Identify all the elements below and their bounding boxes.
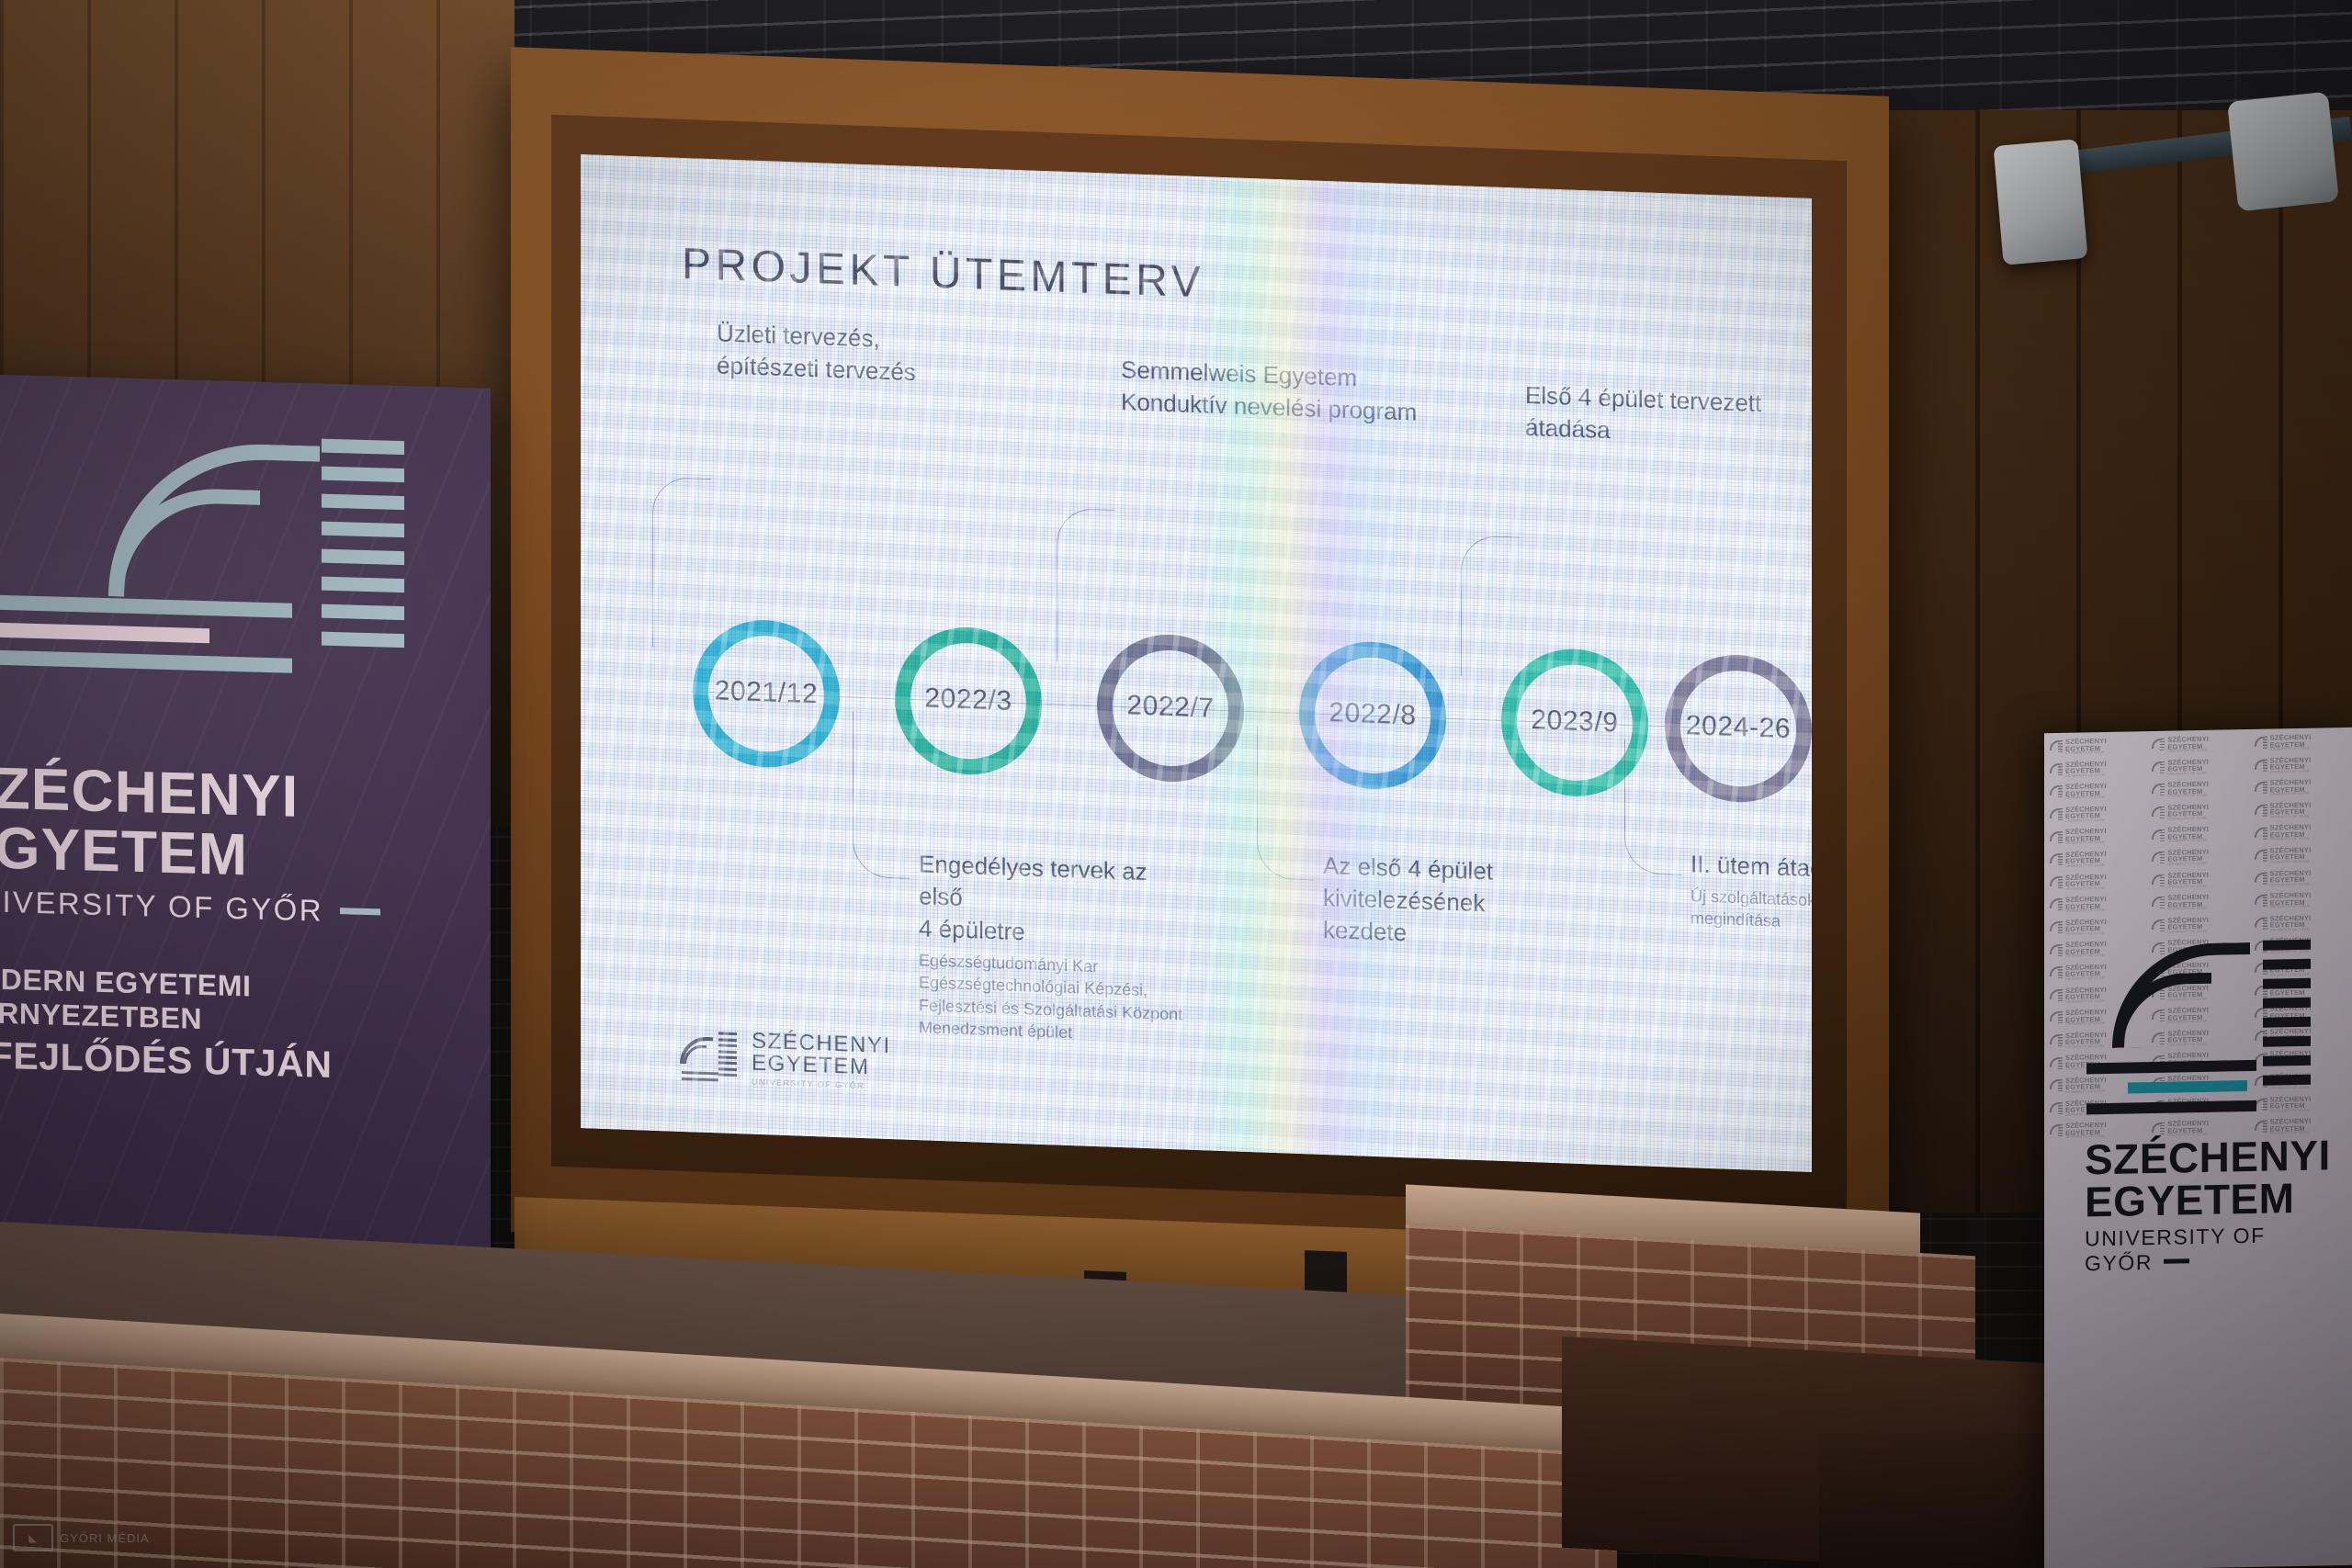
milestone-ring: 2022/3	[895, 625, 1042, 777]
banner-pattern-logo: SZÉCHENYIEGYETEMUNIVERSITY OF GYŐR	[2152, 871, 2248, 890]
banner-pattern-label: SZÉCHENYIEGYETEMUNIVERSITY OF GYŐR	[2270, 892, 2312, 909]
milestone-annotation-2022-03: Engedélyes tervek az első 4 épületre Egé…	[919, 848, 1194, 1047]
milestone-ring: 2022/8	[1299, 639, 1446, 792]
banner-pattern-logo: SZÉCHENYIEGYETEMUNIVERSITY OF GYŐR	[2050, 737, 2146, 756]
milestone-label: 2021/12	[715, 675, 819, 710]
ceiling-speaker-left	[1994, 139, 2088, 265]
szechenyi-mark-icon	[2152, 919, 2165, 932]
szechenyi-mark-icon	[2255, 895, 2267, 908]
szechenyi-mark-icon	[2050, 785, 2063, 798]
timeline-node-2021-12: 2021/12	[693, 617, 840, 770]
banner-pattern-label: SZÉCHENYIEGYETEMUNIVERSITY OF GYŐR	[2270, 779, 2312, 796]
logo-wordmark: SZÉCHENYI EGYETEM UNIVERSITY OF GYŐR	[752, 1031, 891, 1092]
timeline-chart: 2021/12 Üzleti tervezés, építészeti terv…	[581, 154, 1812, 1172]
banner-right-title: SZÉCHENYI EGYETEM UNIVERSITY OF GYŐR	[2068, 1134, 2335, 1277]
szechenyi-mark-icon	[2255, 782, 2267, 795]
szechenyi-mark-icon	[2152, 739, 2165, 751]
timeline-node-2022-07: 2022/7	[1097, 632, 1244, 784]
connector-2022-03	[853, 712, 910, 879]
banner-pattern-logo: SZÉCHENYIEGYETEMUNIVERSITY OF GYŐR	[2152, 735, 2248, 754]
annotation-text: Első 4 épület tervezett átadása	[1525, 379, 1812, 454]
timeline-node-2022-03: 2022/3	[895, 625, 1042, 777]
annotation-text: Engedélyes tervek az első 4 épületre	[919, 848, 1194, 954]
slide-logo: SZÉCHENYI EGYETEM UNIVERSITY OF GYŐR	[680, 1028, 891, 1091]
led-screen: PROJEKT ÜTEMTERV 2021/12 Üzleti tervezés…	[581, 154, 1812, 1172]
szechenyi-mark-icon	[2152, 897, 2165, 909]
milestone-ring: 2021/12	[693, 617, 840, 770]
banner-pattern-label: SZÉCHENYIEGYETEMUNIVERSITY OF GYŐR	[2270, 869, 2312, 886]
banner-left-tagline: MODERN EGYETEMI KÖRNYEZETBEN A FEJLŐDÉS …	[0, 961, 491, 1090]
szechenyi-mark-icon	[2050, 740, 2063, 753]
milestone-annotation-2022-08: Az első 4 épület kivitelezésének kezdete	[1323, 850, 1571, 955]
logo-bars-icon	[718, 1032, 737, 1083]
connector-2023-09	[1461, 535, 1520, 678]
szechenyi-mark-icon	[2050, 763, 2063, 776]
szechenyi-mark-icon	[2050, 921, 2063, 934]
szechenyi-mark-icon	[2255, 827, 2267, 840]
szechenyi-mark-icon	[2152, 829, 2165, 841]
milestone-annotation-2024-26: II. ütem átadása Új szolgáltatások megin…	[1690, 848, 1812, 937]
banner-pattern-logo: SZÉCHENYIEGYETEMUNIVERSITY OF GYŐR	[2050, 828, 2146, 847]
milestone-label: 2022/8	[1329, 697, 1416, 731]
milestone-ring: 2024-26	[1665, 652, 1812, 805]
banner-left: SZÉCHENYI EGYETEM UNIVERSITY OF GYŐR MOD…	[0, 374, 491, 1344]
connector-2022-07	[1057, 508, 1115, 664]
banner-title-line-2: EGYETEM	[0, 818, 380, 889]
szechenyi-mark-icon	[2050, 1034, 2063, 1047]
milestone-label: 2022/3	[924, 682, 1012, 716]
logo-lines-icon	[0, 592, 292, 686]
photo-watermark: ◣ GYŐRI MÉDIA	[13, 1524, 150, 1551]
annotation-text: II. ütem átadása	[1690, 848, 1812, 888]
banner-pattern-logo: SZÉCHENYIEGYETEMUNIVERSITY OF GYŐR	[2152, 780, 2248, 799]
banner-title-line-3: UNIVERSITY OF GYŐR	[0, 883, 380, 930]
timeline-node-2024-26: 2024-26	[1665, 652, 1812, 805]
szechenyi-mark-icon	[2050, 1102, 2063, 1115]
banner-right-main-logo: SZÉCHENYI EGYETEM UNIVERSITY OF GYŐR	[2068, 937, 2335, 1277]
watermark-logo-icon: ◣	[13, 1524, 53, 1551]
banner-pattern-label: SZÉCHENYIEGYETEMUNIVERSITY OF GYŐR	[2065, 874, 2107, 891]
banner-pattern-logo: SZÉCHENYIEGYETEMUNIVERSITY OF GYŐR	[2152, 848, 2248, 867]
milestone-annotation-2022-07: Semmelweis Egyetem Konduktív nevelési pr…	[1121, 354, 1417, 429]
szechenyi-mark-icon	[2050, 898, 2063, 911]
szechenyi-mark-icon	[2050, 808, 2063, 821]
banner-title-line-1: SZÉCHENYI	[2085, 1134, 2335, 1180]
szechenyi-mark-icon	[2152, 761, 2165, 774]
banner-title-line-2: EGYETEM	[2085, 1176, 2335, 1223]
connector-2022-08	[1257, 726, 1314, 880]
szechenyi-mark-icon	[2255, 850, 2267, 863]
ceiling-speaker-right	[2227, 92, 2339, 212]
banner-pattern-logo: SZÉCHENYIEGYETEMUNIVERSITY OF GYŐR	[2152, 893, 2248, 912]
banner-pattern-logo: SZÉCHENYIEGYETEMUNIVERSITY OF GYŐR	[2255, 755, 2351, 774]
szechenyi-mark-icon	[2255, 872, 2267, 885]
banner-pattern-label: SZÉCHENYIEGYETEMUNIVERSITY OF GYŐR	[2065, 783, 2107, 800]
banner-pattern-logo: SZÉCHENYIEGYETEMUNIVERSITY OF GYŐR	[2050, 782, 2146, 801]
annotation-text: Üzleti tervezés, építészeti tervezés	[717, 317, 916, 389]
banner-right: SZÉCHENYIEGYETEMUNIVERSITY OF GYŐRSZÉCHE…	[2044, 728, 2352, 1568]
presentation-slide: PROJEKT ÜTEMTERV 2021/12 Üzleti tervezés…	[581, 154, 1812, 1172]
banner-pattern-label: SZÉCHENYIEGYETEMUNIVERSITY OF GYŐR	[2167, 894, 2209, 911]
banner-pattern-label: SZÉCHENYIEGYETEMUNIVERSITY OF GYŐR	[2065, 738, 2107, 755]
banner-pattern-label: SZÉCHENYIEGYETEMUNIVERSITY OF GYŐR	[2167, 849, 2209, 866]
logo-bars-icon	[322, 439, 404, 662]
milestone-label: 2024-26	[1686, 710, 1791, 745]
banner-pattern-label: SZÉCHENYIEGYETEMUNIVERSITY OF GYŐR	[2270, 824, 2312, 841]
logo-lines-icon	[2086, 1060, 2256, 1124]
banner-pattern-label: SZÉCHENYIEGYETEMUNIVERSITY OF GYŐR	[2065, 919, 2107, 936]
milestone-annotation-2023-09: Első 4 épület tervezett átadása	[1525, 379, 1812, 454]
banner-pattern-logo: SZÉCHENYIEGYETEMUNIVERSITY OF GYŐR	[2255, 914, 2351, 933]
szechenyi-mark-icon	[2255, 805, 2267, 818]
tagline-line-1: MODERN EGYETEMI KÖRNYEZETBEN	[0, 961, 491, 1043]
szechenyi-mark-icon	[2255, 918, 2267, 931]
szechenyi-mark-icon	[2050, 831, 2063, 844]
banner-pattern-logo: SZÉCHENYIEGYETEMUNIVERSITY OF GYŐR	[2050, 895, 2146, 914]
photo-scene: PROJEKT ÜTEMTERV 2021/12 Üzleti tervezés…	[0, 0, 2352, 1568]
banner-pattern-logo: SZÉCHENYIEGYETEMUNIVERSITY OF GYŐR	[2050, 873, 2146, 892]
szechenyi-mark-icon	[2152, 874, 2165, 887]
banner-pattern-label: SZÉCHENYIEGYETEMUNIVERSITY OF GYŐR	[2167, 781, 2209, 798]
banner-pattern-label: SZÉCHENYIEGYETEMUNIVERSITY OF GYŐR	[2270, 756, 2312, 773]
annotation-subtext: Új szolgáltatások megindítása	[1690, 885, 1812, 937]
milestone-ring: 2022/7	[1097, 632, 1244, 784]
banner-pattern-logo: SZÉCHENYIEGYETEMUNIVERSITY OF GYŐR	[2050, 760, 2146, 779]
banner-pattern-logo: SZÉCHENYIEGYETEMUNIVERSITY OF GYŐR	[2050, 805, 2146, 824]
milestone-annotation-2021-12: Üzleti tervezés, építészeti tervezés	[717, 317, 916, 389]
szechenyi-mark-icon	[2152, 784, 2165, 796]
milestone-label: 2023/9	[1531, 705, 1618, 739]
banner-pattern-label: SZÉCHENYIEGYETEMUNIVERSITY OF GYŐR	[2270, 914, 2312, 931]
banner-pattern-label: SZÉCHENYIEGYETEMUNIVERSITY OF GYŐR	[2167, 871, 2209, 888]
banner-pattern-label: SZÉCHENYIEGYETEMUNIVERSITY OF GYŐR	[2270, 847, 2312, 864]
banner-pattern-logo: SZÉCHENYIEGYETEMUNIVERSITY OF GYŐR	[2152, 803, 2248, 822]
logo-underline-icon	[682, 1067, 718, 1081]
banner-pattern-logo: SZÉCHENYIEGYETEMUNIVERSITY OF GYŐR	[2255, 868, 2351, 887]
szechenyi-mark-icon	[2050, 1124, 2063, 1137]
connector-2024-26	[1624, 739, 1681, 875]
banner-pattern-logo: SZÉCHENYIEGYETEMUNIVERSITY OF GYŐR	[2255, 733, 2351, 752]
szechenyi-mark-icon	[2255, 759, 2267, 772]
milestone-label: 2022/7	[1126, 690, 1214, 724]
banner-pattern-label: SZÉCHENYIEGYETEMUNIVERSITY OF GYŐR	[2065, 806, 2107, 823]
banner-pattern-logo: SZÉCHENYIEGYETEMUNIVERSITY OF GYŐR	[2152, 825, 2248, 844]
banner-left-title: SZÉCHENYI EGYETEM UNIVERSITY OF GYŐR	[0, 757, 380, 929]
banner-title-line-3: UNIVERSITY OF GYŐR	[2085, 1222, 2335, 1276]
szechenyi-mark-icon	[2050, 876, 2063, 889]
banner-pattern-logo: SZÉCHENYIEGYETEMUNIVERSITY OF GYŐR	[2152, 758, 2248, 777]
szechenyi-mark-icon	[2050, 1056, 2063, 1069]
watermark-text: GYŐRI MÉDIA	[60, 1531, 150, 1545]
szechenyi-mark-icon	[2050, 966, 2063, 979]
szechenyi-mark-icon	[2255, 737, 2267, 750]
banner-pattern-label: SZÉCHENYIEGYETEMUNIVERSITY OF GYŐR	[2065, 761, 2107, 778]
banner-pattern-label: SZÉCHENYIEGYETEMUNIVERSITY OF GYŐR	[2065, 851, 2107, 868]
szechenyi-mark-icon	[2050, 989, 2063, 1002]
szechenyi-mark-icon	[2050, 853, 2063, 866]
szechenyi-mark-icon	[2152, 852, 2165, 864]
banner-pattern-label: SZÉCHENYIEGYETEMUNIVERSITY OF GYŐR	[2270, 801, 2312, 818]
banner-pattern-logo: SZÉCHENYIEGYETEMUNIVERSITY OF GYŐR	[2255, 891, 2351, 910]
banner-pattern-label: SZÉCHENYIEGYETEMUNIVERSITY OF GYŐR	[2167, 736, 2209, 753]
szechenyi-logo-icon	[2086, 938, 2316, 1126]
banner-pattern-logo: SZÉCHENYIEGYETEMUNIVERSITY OF GYŐR	[2255, 823, 2351, 842]
szechenyi-mark-icon	[2050, 1011, 2063, 1024]
banner-pattern-label: SZÉCHENYIEGYETEMUNIVERSITY OF GYŐR	[2167, 758, 2209, 775]
banner-pattern-logo: SZÉCHENYIEGYETEMUNIVERSITY OF GYŐR	[2050, 850, 2146, 869]
annotation-text: Az első 4 épület kivitelezésének kezdete	[1323, 850, 1571, 955]
banner-pattern-label: SZÉCHENYIEGYETEMUNIVERSITY OF GYŐR	[2065, 828, 2107, 845]
szechenyi-mark-icon	[2050, 1079, 2063, 1092]
annotation-subtext: Egészségtudományi Kar Egészségtechnológi…	[919, 949, 1194, 1047]
timeline-node-2022-08: 2022/8	[1299, 639, 1446, 792]
banner-pattern-label: SZÉCHENYIEGYETEMUNIVERSITY OF GYŐR	[2065, 896, 2107, 913]
banner-pattern-label: SZÉCHENYIEGYETEMUNIVERSITY OF GYŐR	[2167, 804, 2209, 821]
connector-2021-12	[652, 477, 711, 649]
szechenyi-mark-icon	[2152, 807, 2165, 819]
szechenyi-mark-icon	[2050, 944, 2063, 957]
banner-pattern-label: SZÉCHENYIEGYETEMUNIVERSITY OF GYŐR	[2167, 826, 2209, 843]
banner-pattern-logo: SZÉCHENYIEGYETEMUNIVERSITY OF GYŐR	[2255, 778, 2351, 797]
logo-bars-icon	[2263, 940, 2311, 1095]
annotation-text: Semmelweis Egyetem Konduktív nevelési pr…	[1121, 354, 1417, 429]
banner-pattern-logo: SZÉCHENYIEGYETEMUNIVERSITY OF GYŐR	[2255, 846, 2351, 865]
banner-pattern-logo: SZÉCHENYIEGYETEMUNIVERSITY OF GYŐR	[2050, 918, 2146, 937]
banner-pattern-logo: SZÉCHENYIEGYETEMUNIVERSITY OF GYŐR	[2255, 801, 2351, 820]
banner-pattern-logo: SZÉCHENYIEGYETEMUNIVERSITY OF GYŐR	[2152, 916, 2248, 935]
szechenyi-logo-icon	[680, 1031, 737, 1082]
banner-pattern-label: SZÉCHENYIEGYETEMUNIVERSITY OF GYŐR	[2167, 917, 2209, 934]
banner-pattern-label: SZÉCHENYIEGYETEMUNIVERSITY OF GYŐR	[2270, 734, 2312, 751]
